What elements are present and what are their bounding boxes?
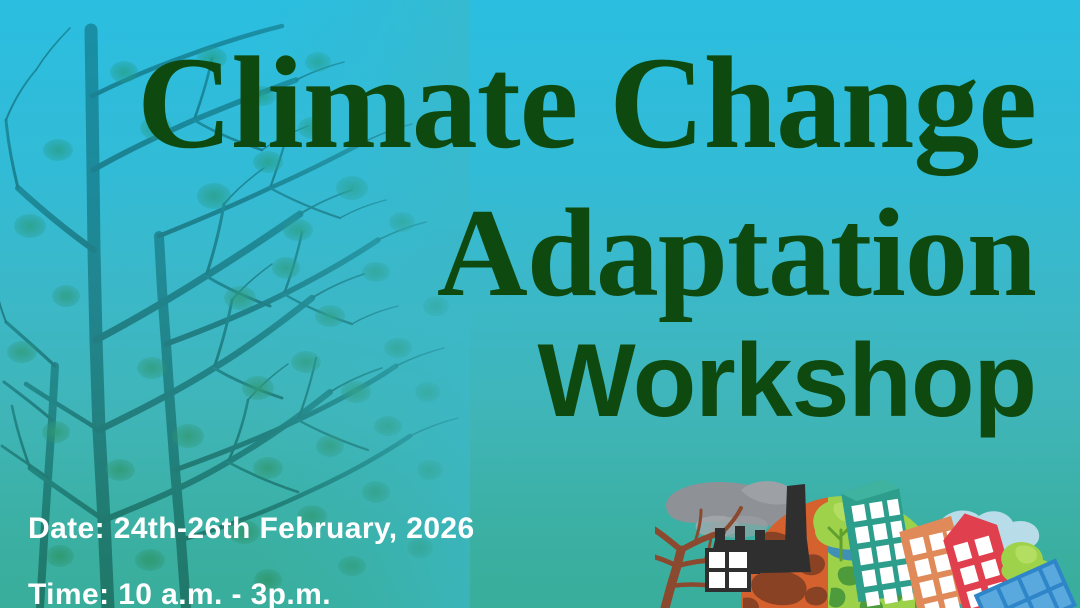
poster-canvas: Climate Change Adaptation Workshop Date:…: [0, 0, 1080, 608]
event-time: Time: 10 a.m. - 3p.m.: [28, 578, 331, 608]
title-line-adaptation: Adaptation: [36, 196, 1036, 312]
event-date: Date: 24th-26th February, 2026: [28, 512, 475, 546]
title-line-climate-change: Climate Change: [36, 42, 1036, 163]
factory-window-building: [707, 550, 749, 590]
climate-split-globe-illustration: [655, 468, 1080, 608]
title-line-workshop: Workshop: [36, 334, 1036, 430]
